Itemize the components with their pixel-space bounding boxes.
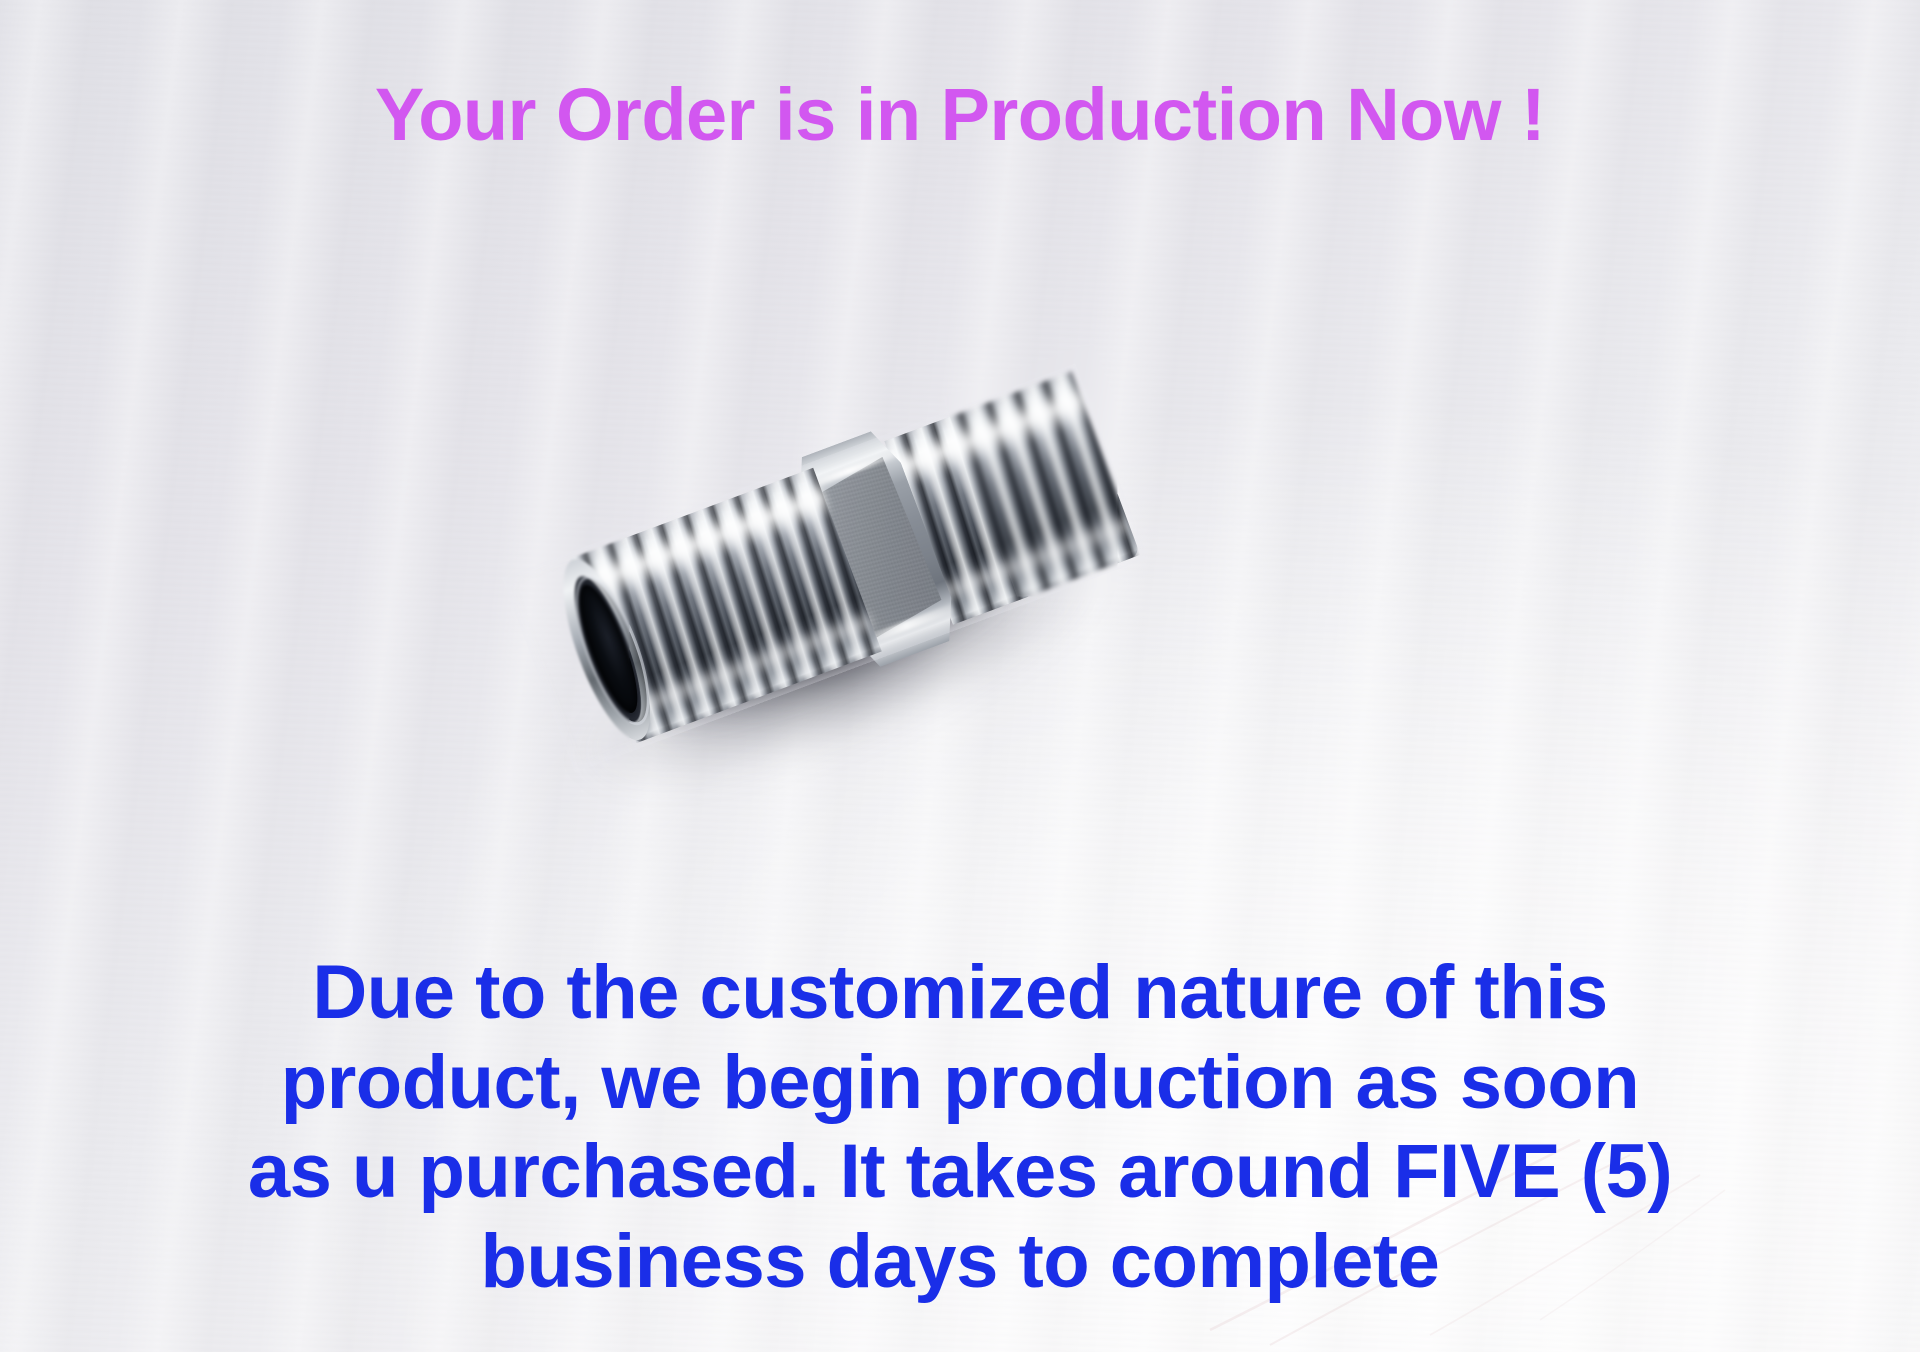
- headline-order-in-production: Your Order is in Production Now !: [0, 78, 1920, 152]
- product-photo-pipe-nipple: [470, 330, 1150, 800]
- promo-image: Your Order is in Production Now ! Due to…: [0, 0, 1920, 1352]
- notice-line-1: Due to the customized nature of this: [180, 948, 1740, 1038]
- notice-line-2: product, we begin production as soon: [180, 1038, 1740, 1128]
- notice-line-4: business days to complete: [180, 1217, 1740, 1307]
- notice-line-3: as u purchased. It takes around FIVE (5): [180, 1127, 1740, 1217]
- production-notice-text: Due to the customized nature of this pro…: [180, 948, 1740, 1307]
